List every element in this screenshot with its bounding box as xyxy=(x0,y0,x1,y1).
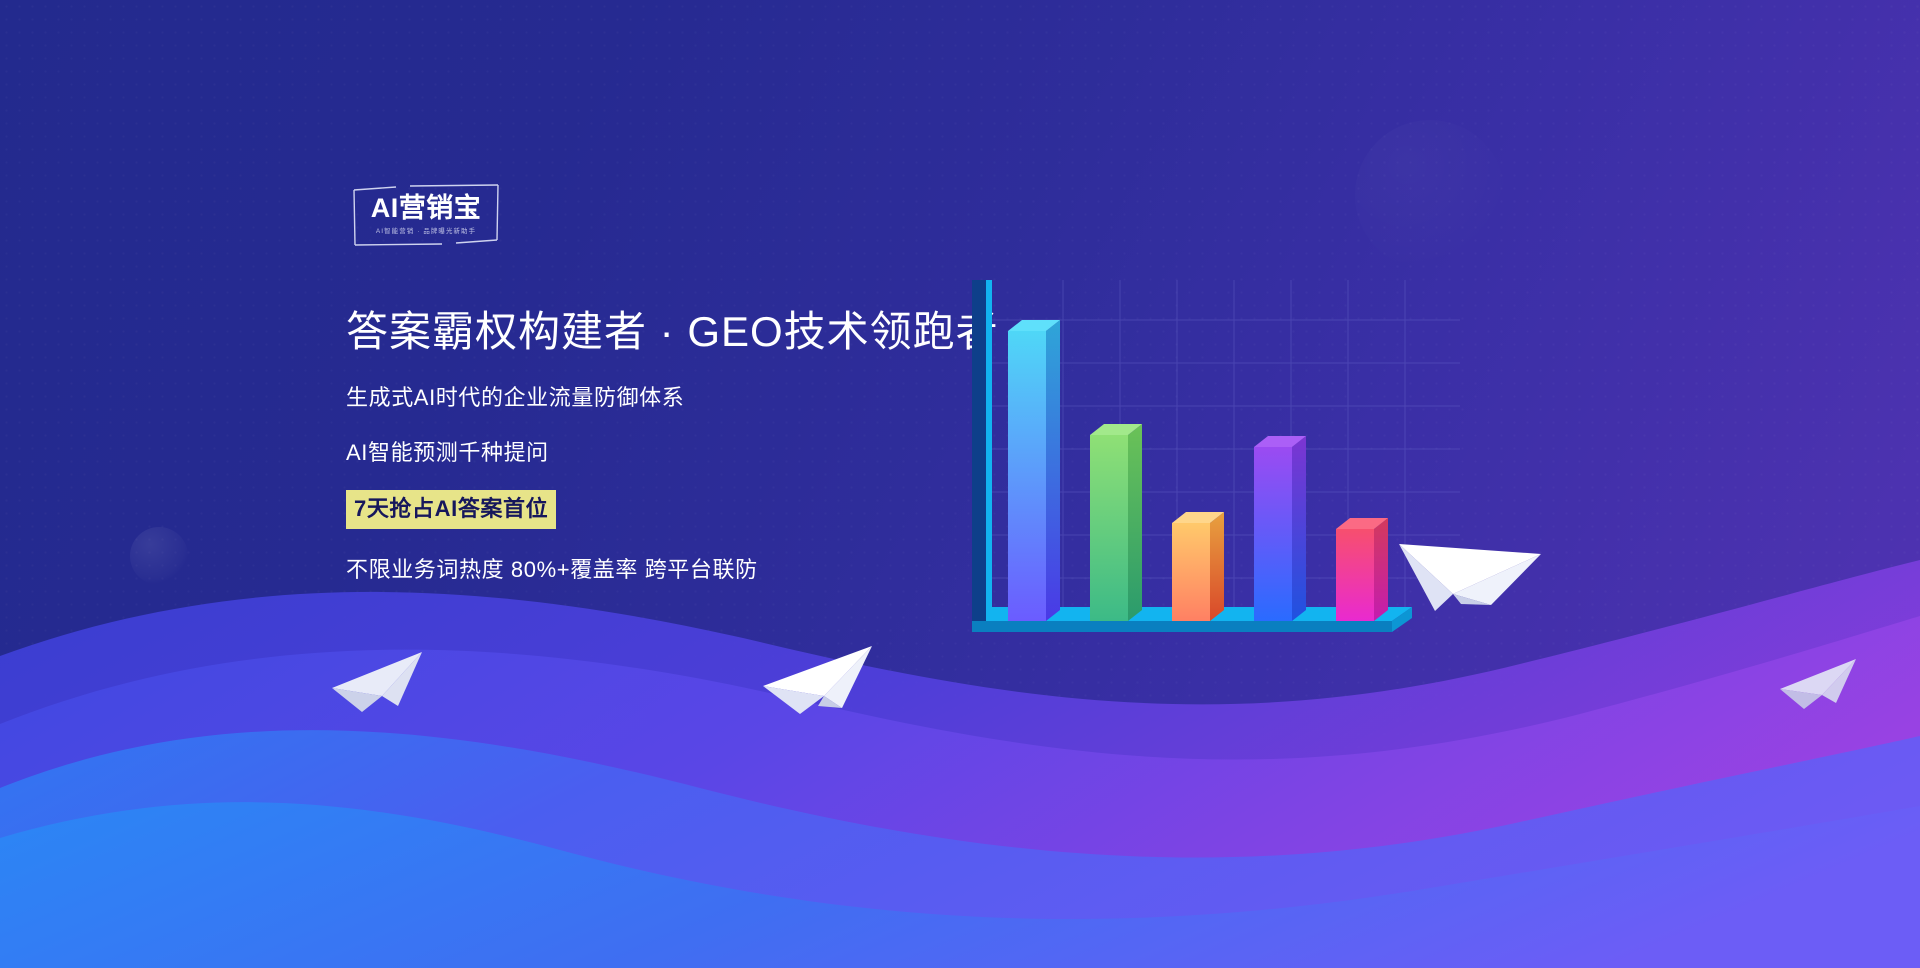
paper-plane-icon xyxy=(1395,508,1545,618)
paper-plane-icon xyxy=(330,648,425,718)
chart-bar-5 xyxy=(1336,518,1388,621)
brand-logo[interactable]: AI营销宝 AI智能营销 · 品牌曝光新助手 xyxy=(352,184,500,246)
logo-tagline: AI智能营销 · 品牌曝光新助手 xyxy=(358,226,494,235)
chart-bar-1 xyxy=(1008,320,1060,621)
glow-circle xyxy=(1355,120,1505,270)
chart-bar-4 xyxy=(1254,436,1306,621)
hero-subline-1: 生成式AI时代的企业流量防御体系 xyxy=(346,383,1066,413)
hero-highlight-badge: 7天抢占AI答案首位 xyxy=(346,490,556,529)
chart-bars xyxy=(960,280,1460,680)
logo-wordmark: AI营销宝 xyxy=(352,193,500,223)
hero-copy: 答案霸权构建者 · GEO技术领跑者 生成式AI时代的企业流量防御体系 AI智能… xyxy=(346,306,1066,585)
hero-banner: AI营销宝 AI智能营销 · 品牌曝光新助手 答案霸权构建者 · GEO技术领跑… xyxy=(0,0,1920,968)
hero-subline-3: 不限业务词热度 80%+覆盖率 跨平台联防 xyxy=(346,555,1066,585)
hero-subline-2: AI智能预测千种提问 xyxy=(346,438,1066,468)
glow-circle xyxy=(548,700,668,820)
page-title: 答案霸权构建者 · GEO技术领跑者 xyxy=(346,306,1066,358)
paper-plane-icon xyxy=(760,640,875,725)
logo-text: AI营销宝 AI智能营销 · 品牌曝光新助手 xyxy=(352,193,500,236)
chart-bar-2 xyxy=(1090,424,1142,621)
glow-circle xyxy=(1630,845,1820,968)
chart-bar-3 xyxy=(1172,512,1224,621)
paper-plane-icon xyxy=(1778,655,1858,713)
glow-circle xyxy=(130,527,188,585)
chart-y-axis xyxy=(972,280,992,621)
bar-chart-illustration xyxy=(960,280,1460,680)
hero-highlight-row: 7天抢占AI答案首位 xyxy=(346,490,1066,529)
